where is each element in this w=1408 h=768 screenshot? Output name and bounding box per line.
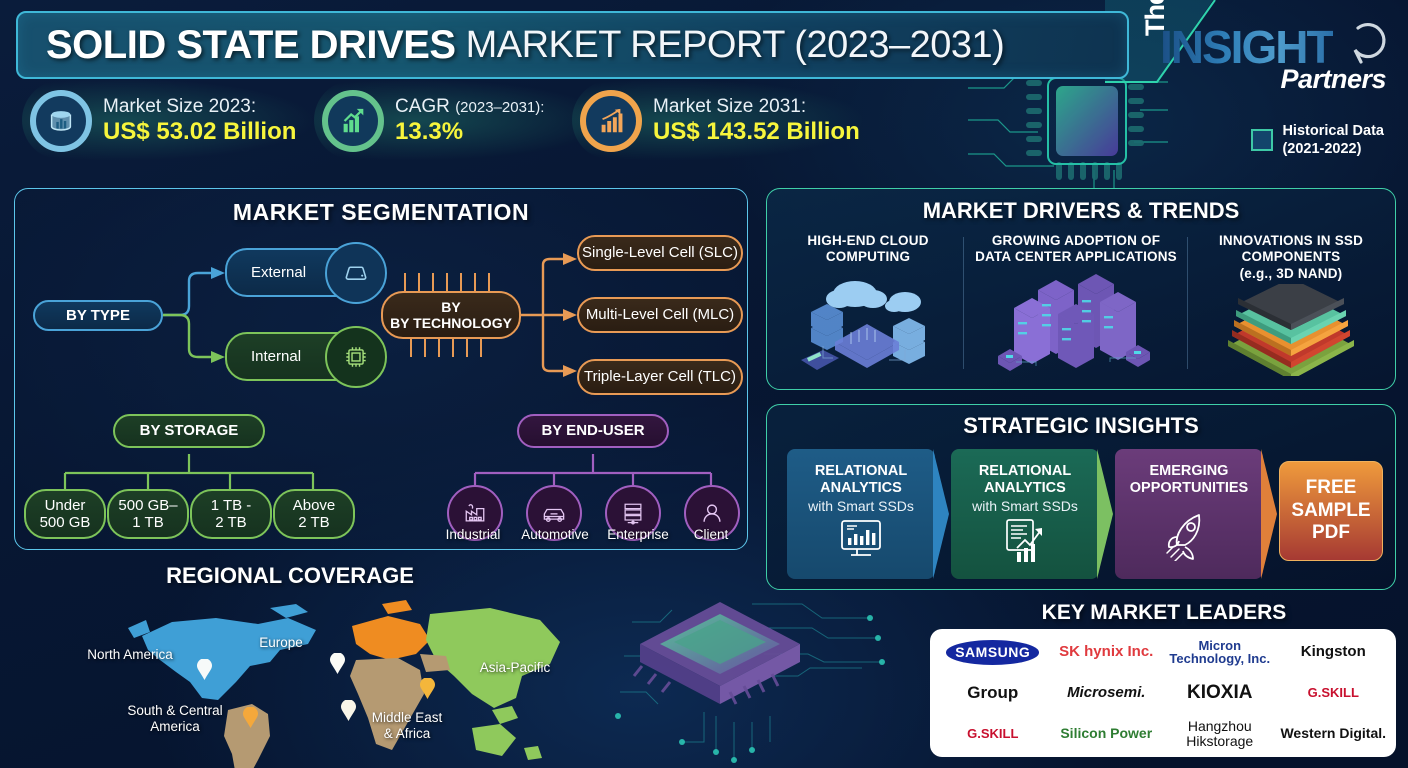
- report-chart-icon: [1001, 518, 1049, 564]
- logo-microsemi: Microsemi.: [1067, 685, 1145, 701]
- key-market-leaders-title: KEY MARKET LEADERS: [928, 601, 1400, 625]
- logo-group: Group: [967, 684, 1018, 702]
- historical-data-line1: Historical Data: [1282, 122, 1384, 140]
- node-storage-under-500gb[interactable]: Under 500 GB: [24, 489, 106, 539]
- logo-gskill-1: G.SKILL: [1308, 686, 1359, 700]
- stat-cagr: CAGR (2023–2031): 13.3%: [322, 90, 580, 152]
- node-slc[interactable]: Single-Level Cell (SLC): [577, 235, 743, 271]
- map-pin-south-america: [243, 707, 258, 728]
- chip-icon: [325, 326, 387, 388]
- driver-ssd-innovation: INNOVATIONS IN SSD COMPONENTS (e.g., 3D …: [1191, 233, 1391, 381]
- logo-kingston: Kingston: [1301, 644, 1366, 660]
- stat-text: Market Size 2031: US$ 143.52 Billion: [653, 96, 860, 147]
- market-segmentation-panel: MARKET SEGMENTATION BY TYPE External: [14, 188, 748, 550]
- node-by-end-user[interactable]: BY END-USER: [517, 414, 669, 448]
- node-by-storage[interactable]: BY STORAGE: [113, 414, 265, 448]
- driver-heading: HIGH-END CLOUD COMPUTING: [775, 233, 961, 266]
- node-by-technology[interactable]: BY BY TECHNOLOGY: [381, 291, 521, 339]
- end-user-label-enterprise: Enterprise: [590, 527, 686, 543]
- logo-gskill-2: G.SKILL: [967, 727, 1018, 741]
- map-pin-europe: [330, 653, 345, 674]
- stat-value: US$ 143.52 Billion: [653, 118, 860, 147]
- stat-text: CAGR (2023–2031): 13.3%: [395, 96, 544, 147]
- historical-data-swatch: [1251, 129, 1273, 151]
- stat-market-size-2023: Market Size 2023: US$ 53.02 Billion: [30, 90, 322, 152]
- insight-subheading: with Smart SSDs: [972, 498, 1078, 514]
- stat-value: 13.3%: [395, 118, 544, 147]
- historical-data-label: Historical Data (2021-2022): [1282, 122, 1384, 158]
- region-europe: [352, 616, 430, 660]
- free-sample-pdf-button[interactable]: FREE SAMPLE PDF: [1279, 461, 1383, 561]
- insight-heading: RELATIONAL ANALYTICS: [815, 463, 907, 497]
- node-storage-1tb-2tb[interactable]: 1 TB - 2 TB: [190, 489, 272, 539]
- historical-data-legend: Historical Data (2021-2022): [1251, 122, 1384, 158]
- map-pin-asia-pacific: [420, 678, 435, 699]
- database-bars-icon: [30, 90, 92, 152]
- datacenter-racks-icon: [990, 270, 1162, 378]
- growth-chart-arrow-icon: [322, 90, 384, 152]
- stat-market-size-2031: Market Size 2031: US$ 143.52 Billion: [580, 90, 880, 152]
- bar-chart-arrow-icon: [580, 90, 642, 152]
- drivers-divider: [963, 237, 964, 369]
- external-drive-icon: [325, 242, 387, 304]
- stat-label-sub: (2023–2031):: [455, 99, 544, 116]
- insight-heading: RELATIONAL ANALYTICS: [979, 463, 1071, 497]
- region-label-asia-pacific: Asia-Pacific: [470, 660, 560, 676]
- driver-heading: INNOVATIONS IN SSD COMPONENTS (e.g., 3D …: [1191, 233, 1391, 282]
- insight-heading: EMERGING OPPORTUNITIES: [1130, 463, 1248, 497]
- region-label-south-america: South & Central America: [116, 703, 234, 735]
- cloud-servers-icon: [793, 272, 943, 376]
- logo-western-digital: Western Digital.: [1280, 726, 1386, 741]
- infographic-root: SOLID STATE DRIVES MARKET REPORT (2023–2…: [0, 0, 1408, 768]
- world-map: [120, 598, 640, 768]
- rocket-icon: [1161, 509, 1217, 561]
- map-pin-north-america: [197, 659, 212, 680]
- logo-silicon-power: Silicon Power: [1060, 726, 1152, 741]
- driver-cloud-computing: HIGH-END CLOUD COMPUTING: [775, 233, 961, 381]
- stat-label: CAGR (2023–2031):: [395, 96, 544, 118]
- stat-text: Market Size 2023: US$ 53.02 Billion: [103, 96, 296, 147]
- driver-data-center: GROWING ADOPTION OF DATA CENTER APPLICAT…: [967, 233, 1185, 383]
- strategic-insights-panel: STRATEGIC INSIGHTS RELATIONAL ANALYTICS …: [766, 404, 1396, 590]
- chevron-right-icon: [1097, 449, 1115, 579]
- regional-coverage-title: REGIONAL COVERAGE: [70, 563, 510, 589]
- logo-swoosh-icon: [1332, 12, 1392, 72]
- end-user-label-client: Client: [676, 527, 746, 543]
- logo-sk-hynix: SK hynix Inc.: [1059, 644, 1153, 660]
- driver-heading: GROWING ADOPTION OF DATA CENTER APPLICAT…: [967, 233, 1185, 266]
- map-pin-middle-east-africa: [341, 700, 356, 721]
- key-market-leaders-box: SAMSUNG SK hynix Inc. Micron Technology,…: [930, 629, 1396, 757]
- logo-hangzhou-hikstorage: Hangzhou Hikstorage: [1163, 719, 1277, 748]
- end-user-label-industrial: Industrial: [430, 527, 516, 543]
- stat-label-main: CAGR: [395, 96, 455, 117]
- logo-samsung: SAMSUNG: [946, 640, 1039, 665]
- insight-subheading: with Smart SSDs: [808, 498, 914, 514]
- node-mlc[interactable]: Multi-Level Cell (MLC): [577, 297, 743, 333]
- stat-label: Market Size 2023:: [103, 96, 296, 118]
- insight-card-relational-analytics-2[interactable]: RELATIONAL ANALYTICS with Smart SSDs: [951, 449, 1099, 579]
- logo-kioxia: KIOXIA: [1187, 683, 1252, 703]
- report-title-rest: MARKET REPORT (2023–2031): [466, 24, 1005, 67]
- node-by-technology-line2: BY TECHNOLOGY: [390, 315, 512, 331]
- stat-label: Market Size 2031:: [653, 96, 860, 118]
- insight-card-relational-analytics-1[interactable]: RELATIONAL ANALYTICS with Smart SSDs: [787, 449, 935, 579]
- nand-stack-icon: [1216, 284, 1366, 376]
- historical-data-line2: (2021-2022): [1282, 140, 1384, 158]
- region-label-europe: Europe: [246, 635, 316, 651]
- chevron-right-icon: [933, 449, 951, 579]
- insight-partners-logo: The INSIGHT Partners: [1130, 14, 1390, 98]
- node-by-technology-line1: BY: [441, 299, 460, 315]
- report-title-strong: SOLID STATE DRIVES: [46, 23, 456, 68]
- region-label-middle-east-africa: Middle East & Africa: [355, 710, 459, 742]
- report-title-bar: SOLID STATE DRIVES MARKET REPORT (2023–2…: [16, 11, 1129, 79]
- node-by-type[interactable]: BY TYPE: [33, 300, 163, 331]
- node-storage-above-2tb[interactable]: Above 2 TB: [273, 489, 355, 539]
- market-drivers-panel: MARKET DRIVERS & TRENDS HIGH-END CLOUD C…: [766, 188, 1396, 390]
- stat-value: US$ 53.02 Billion: [103, 118, 296, 147]
- node-tlc[interactable]: Triple-Layer Cell (TLC): [577, 359, 743, 395]
- monitor-chart-icon: [837, 518, 885, 562]
- drivers-title: MARKET DRIVERS & TRENDS: [767, 198, 1395, 224]
- free-sample-pdf-label: FREE SAMPLE PDF: [1291, 477, 1370, 545]
- stat-badges: Market Size 2023: US$ 53.02 Billion CAGR…: [30, 90, 880, 152]
- node-storage-500gb-1tb[interactable]: 500 GB– 1 TB: [107, 489, 189, 539]
- isometric-chip-decoration-icon: [612, 592, 912, 768]
- logo-micron: Micron Technology, Inc.: [1163, 639, 1277, 666]
- region-label-north-america: North America: [72, 647, 188, 663]
- drivers-divider: [1187, 237, 1188, 369]
- insight-card-emerging-opportunities[interactable]: EMERGING OPPORTUNITIES: [1115, 449, 1263, 579]
- chevron-right-icon: [1261, 449, 1279, 579]
- insights-title: STRATEGIC INSIGHTS: [767, 413, 1395, 439]
